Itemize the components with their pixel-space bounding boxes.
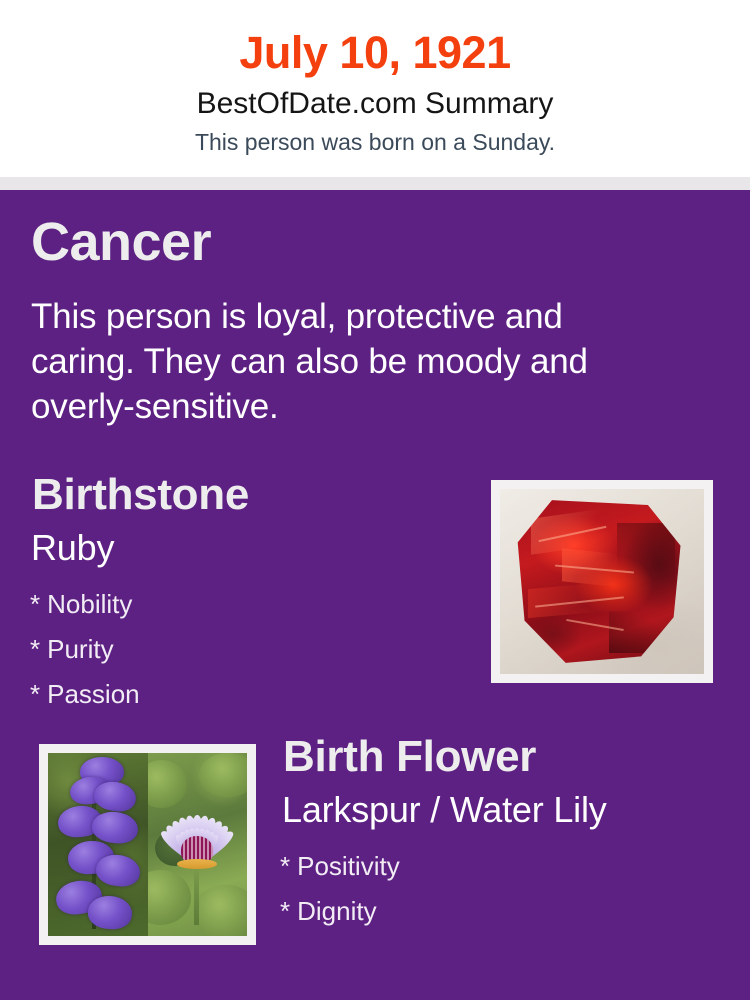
list-item: *Purity: [30, 627, 140, 672]
ruby-facet: [609, 611, 674, 653]
site-summary-label: BestOfDate.com Summary: [0, 75, 750, 119]
trait-label: Passion: [47, 679, 140, 709]
water-lily-photo: [148, 753, 248, 936]
birth-flower-name: Larkspur / Water Lily: [282, 792, 607, 828]
born-day-text: This person was born on a Sunday.: [0, 119, 750, 154]
bullet-star-icon: *: [280, 896, 290, 926]
larkspur-photo: [48, 753, 148, 936]
trait-label: Purity: [47, 634, 113, 664]
list-item: *Nobility: [30, 582, 140, 627]
birthstone-heading: Birthstone: [32, 473, 249, 517]
page-title: July 10, 1921: [0, 0, 750, 75]
ruby-crystal-shape: [514, 500, 685, 663]
birthstone-image-frame: [491, 480, 713, 683]
zodiac-sign-name: Cancer: [31, 215, 211, 269]
zodiac-description: This person is loyal, protective and car…: [31, 294, 651, 429]
trait-label: Dignity: [297, 896, 376, 926]
main-panel: Cancer This person is loyal, protective …: [0, 190, 750, 1000]
birthstone-trait-list: *Nobility *Purity *Passion: [30, 582, 140, 717]
flower-photo-pair: [48, 753, 247, 936]
birthstone-name: Ruby: [31, 530, 114, 566]
water-lily-bloom: [155, 790, 239, 871]
header-divider: [0, 177, 750, 190]
lily-pad: [148, 870, 192, 925]
birth-flower-heading: Birth Flower: [283, 735, 536, 779]
bullet-star-icon: *: [30, 679, 40, 709]
list-item: *Passion: [30, 672, 140, 717]
summary-card: July 10, 1921 BestOfDate.com Summary Thi…: [0, 0, 750, 1000]
birth-flower-trait-list: *Positivity *Dignity: [280, 844, 400, 934]
ruby-facet: [531, 507, 613, 554]
trait-label: Positivity: [297, 851, 400, 881]
bullet-star-icon: *: [30, 634, 40, 664]
larkspur-bloom: [92, 779, 138, 814]
lily-stamen-base: [177, 859, 217, 869]
larkspur-bloom: [94, 853, 142, 890]
bullet-star-icon: *: [280, 851, 290, 881]
list-item: *Positivity: [280, 844, 400, 889]
trait-label: Nobility: [47, 589, 132, 619]
bullet-star-icon: *: [30, 589, 40, 619]
ruby-facet: [617, 523, 675, 598]
ruby-photo: [500, 489, 704, 674]
list-item: *Dignity: [280, 889, 400, 934]
birth-flower-image-frame: [39, 744, 256, 945]
header: July 10, 1921 BestOfDate.com Summary Thi…: [0, 0, 750, 177]
lily-pad: [193, 885, 247, 936]
